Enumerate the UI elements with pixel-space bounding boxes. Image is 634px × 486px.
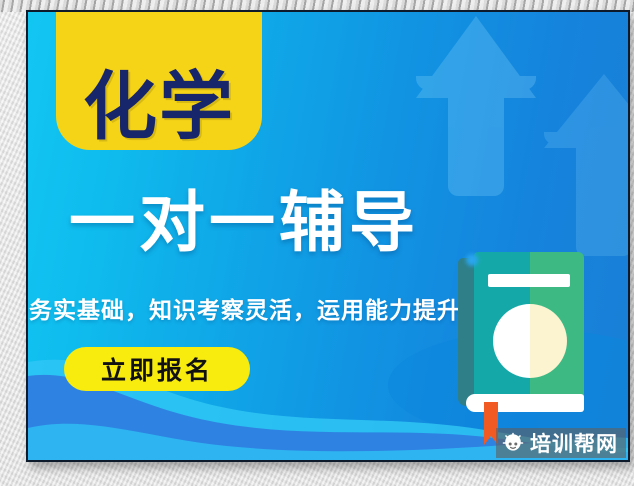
signup-button[interactable]: 立即报名 bbox=[64, 347, 250, 391]
watermark-text: 培训帮网 bbox=[530, 428, 618, 458]
promo-banner: 化学 一对一辅导 务实基础，知识考察灵活，运用能力提升 立即报名 bbox=[26, 10, 630, 462]
book-glint bbox=[466, 254, 478, 266]
watermark: 培训帮网 bbox=[496, 428, 626, 458]
banner-subheadline: 务实基础，知识考察灵活，运用能力提升 bbox=[26, 298, 470, 326]
arrow-up-icon bbox=[416, 16, 536, 196]
signup-button-label: 立即报名 bbox=[101, 351, 213, 387]
subject-chip: 化学 bbox=[56, 10, 262, 150]
banner-headline: 一对一辅导 bbox=[34, 190, 454, 256]
arrow-up-icon bbox=[544, 56, 630, 256]
subject-chip-label: 化学 bbox=[83, 70, 235, 144]
book-circle-emblem bbox=[493, 304, 567, 378]
sun-face-icon bbox=[502, 432, 524, 454]
book-icon bbox=[458, 252, 584, 412]
book-title-bar bbox=[488, 274, 570, 287]
